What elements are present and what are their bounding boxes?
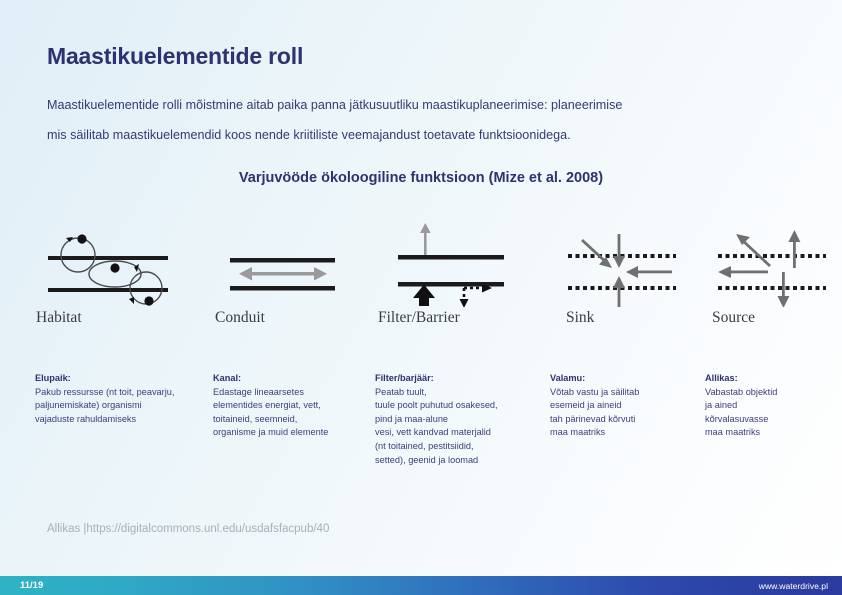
conduit-icon xyxy=(205,212,365,307)
caption-line: Edastage lineaarsetes xyxy=(213,386,328,400)
caption-line: kõrvalasuvasse xyxy=(705,413,777,427)
caption-valamu: Valamu: Võtab vastu ja säilitab esemeid … xyxy=(550,372,639,440)
caption-line: vajaduste rahuldamiseks xyxy=(35,413,174,427)
diagram-label-habitat: Habitat xyxy=(36,309,82,327)
intro-line-2: mis säilitab maastikuelemendid koos nend… xyxy=(47,120,747,150)
caption-allikas: Allikas: Vabastab objektid ja ained kõrv… xyxy=(705,372,777,440)
diagram-source: Source xyxy=(698,212,842,342)
diagram-label-sink: Sink xyxy=(566,309,594,327)
caption-line: Vabastab objektid xyxy=(705,386,777,400)
caption-line: tuule poolt puhutud osakesed, xyxy=(375,399,498,413)
caption-line: organisme ja muid elemente xyxy=(213,426,328,440)
page-title: Maastikuelementide roll xyxy=(47,43,303,70)
slide-canvas: Maastikuelementide roll Maastikuelementi… xyxy=(0,0,842,595)
intro-line-1: Maastikuelementide rolli mõistmine aitab… xyxy=(47,90,747,120)
caption-title: Elupaik: xyxy=(35,372,174,386)
source-note[interactable]: Allikas |https://digitalcommons.unl.edu/… xyxy=(47,523,329,535)
diagram-label-filter-barrier: Filter/Barrier xyxy=(378,309,460,327)
caption-line: (nt toitained, pestitsiidid, xyxy=(375,440,498,454)
source-icon xyxy=(698,212,842,307)
caption-title: Allikas: xyxy=(705,372,777,386)
caption-line: maa maatriks xyxy=(550,426,639,440)
habitat-icon xyxy=(30,212,190,307)
caption-title: Kanal: xyxy=(213,372,328,386)
caption-title: Filter/barjäär: xyxy=(375,372,498,386)
caption-elupaik: Elupaik: Pakub ressursse (nt toit, peava… xyxy=(35,372,174,426)
filter-barrier-icon xyxy=(372,212,532,307)
caption-line: Peatab tuult, xyxy=(375,386,498,400)
caption-line: Võtab vastu ja säilitab xyxy=(550,386,639,400)
caption-filter-barjaar: Filter/barjäär: Peatab tuult, tuule pool… xyxy=(375,372,498,467)
intro-paragraph: Maastikuelementide rolli mõistmine aitab… xyxy=(47,90,747,150)
caption-line: vesi, vett kandvad materjalid xyxy=(375,426,498,440)
diagram-habitat: Habitat xyxy=(30,212,190,342)
section-heading: Varjuvööde ökoloogiline funktsioon (Mize… xyxy=(0,170,842,186)
caption-line: paljunemiskate) organismi xyxy=(35,399,174,413)
caption-line: Pakub ressursse (nt toit, peavarju, xyxy=(35,386,174,400)
caption-line: ja ained xyxy=(705,399,777,413)
caption-line: toitaineid, seemneid, xyxy=(213,413,328,427)
caption-kanal: Kanal: Edastage lineaarsetes elementides… xyxy=(213,372,328,440)
caption-line: maa maatriks xyxy=(705,426,777,440)
caption-line: setted), geenid ja loomad xyxy=(375,454,498,468)
diagram-row: Habitat Conduit xyxy=(30,212,820,342)
caption-line: pind ja maa-alune xyxy=(375,413,498,427)
caption-line: elementides energiat, vett, xyxy=(213,399,328,413)
caption-row: Elupaik: Pakub ressursse (nt toit, peava… xyxy=(30,372,830,492)
slide-page-number: 11/19 xyxy=(20,580,43,591)
sink-icon xyxy=(542,212,702,307)
caption-line: tah pärinevad kõrvuti xyxy=(550,413,639,427)
diagram-filter-barrier: Filter/Barrier xyxy=(372,212,532,342)
caption-line: esemeid ja aineid xyxy=(550,399,639,413)
footer-website-url[interactable]: www.waterdrive.pl xyxy=(759,581,828,591)
diagram-label-conduit: Conduit xyxy=(215,309,265,327)
diagram-label-source: Source xyxy=(712,309,755,327)
footer-bar: 11/19 www.waterdrive.pl xyxy=(0,576,842,595)
caption-title: Valamu: xyxy=(550,372,639,386)
diagram-conduit: Conduit xyxy=(205,212,365,342)
diagram-sink: Sink xyxy=(542,212,702,342)
